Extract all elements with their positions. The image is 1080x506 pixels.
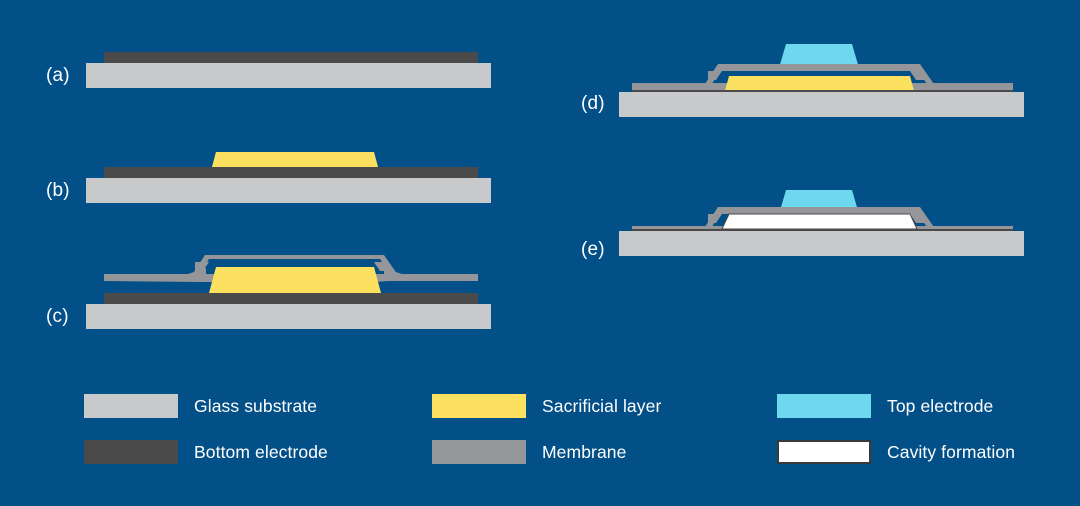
panel-b-bottom-electrode xyxy=(104,167,478,178)
panel-a-bottom-electrode xyxy=(104,52,478,63)
legend-swatch-sacrificial-layer xyxy=(432,394,526,418)
panel-d-glass-substrate xyxy=(619,92,1024,117)
panel-e-membrane-top xyxy=(718,207,920,214)
legend-label-top-electrode: Top electrode xyxy=(887,396,993,417)
legend-swatch-membrane xyxy=(432,440,526,464)
panel-label-a: (a) xyxy=(46,65,70,87)
process-flow-diagram xyxy=(0,0,1080,506)
panel-a-glass-substrate xyxy=(86,63,491,88)
legend-item-sacrificial-layer: Sacrificial layer xyxy=(432,394,661,418)
legend-label-cavity-formation: Cavity formation xyxy=(887,442,1015,463)
legend-item-cavity-formation: Cavity formation xyxy=(777,440,1015,464)
legend-swatch-top-electrode xyxy=(777,394,871,418)
legend-label-sacrificial-layer: Sacrificial layer xyxy=(542,396,661,417)
panel-label-d: (d) xyxy=(581,93,605,115)
legend-item-glass-substrate: Glass substrate xyxy=(84,394,317,418)
legend-swatch-cavity-formation xyxy=(777,440,871,464)
legend-swatch-glass-substrate xyxy=(84,394,178,418)
panel-e-glass-substrate xyxy=(619,231,1024,256)
panel-label-c: (c) xyxy=(46,306,69,328)
panel-d-membrane-top xyxy=(718,64,920,71)
panel-label-b: (b) xyxy=(46,180,70,202)
panel-label-e: (e) xyxy=(581,239,605,261)
legend-item-top-electrode: Top electrode xyxy=(777,394,993,418)
legend-label-glass-substrate: Glass substrate xyxy=(194,396,317,417)
legend-label-bottom-electrode: Bottom electrode xyxy=(194,442,328,463)
panel-c-sacrificial-layer xyxy=(209,267,381,293)
legend-item-membrane: Membrane xyxy=(432,440,626,464)
panel-b-glass-substrate xyxy=(86,178,491,203)
panel-c-bottom-electrode xyxy=(104,293,478,304)
legend-swatch-bottom-electrode xyxy=(84,440,178,464)
panel-e-cavity-formation xyxy=(722,214,917,229)
legend-label-membrane: Membrane xyxy=(542,442,626,463)
legend-item-bottom-electrode: Bottom electrode xyxy=(84,440,328,464)
panel-c-glass-substrate xyxy=(86,304,491,329)
panel-a xyxy=(86,52,491,88)
